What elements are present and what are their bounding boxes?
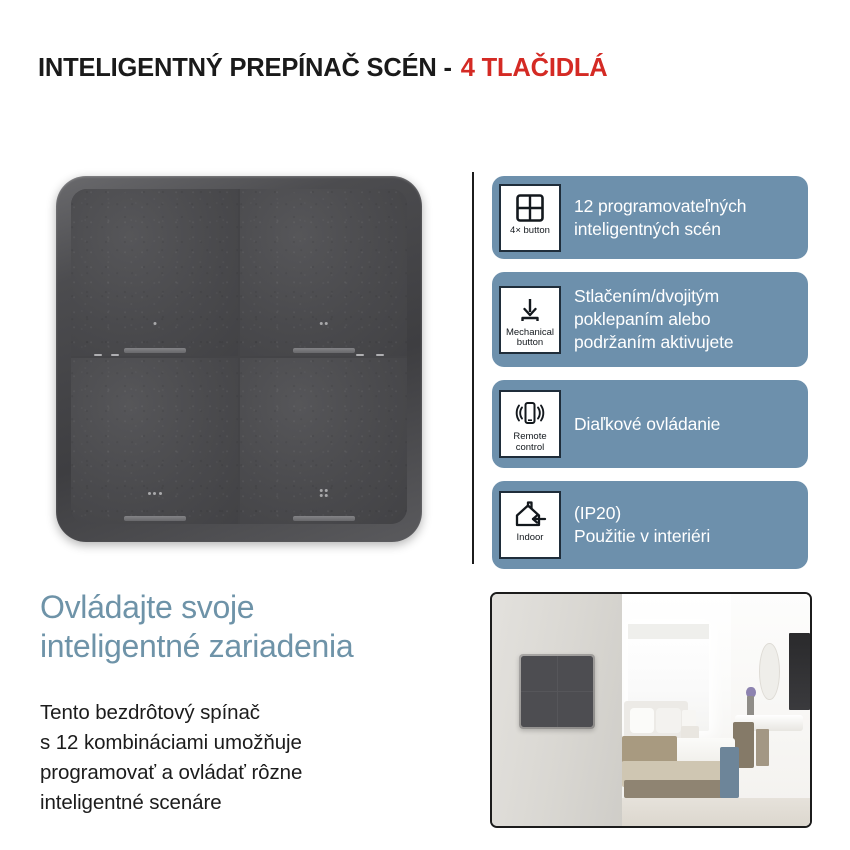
promo-heading-line: Ovládajte svoje	[40, 588, 460, 627]
page-title-main: INTELIGENTNÝ PREPÍNAČ SCÉN -	[38, 54, 452, 83]
vertical-divider	[472, 172, 474, 564]
caption-line-2: control	[516, 442, 545, 453]
feature-icon-caption: 4× button	[510, 226, 550, 237]
photo-mirror	[759, 643, 780, 701]
pad-light-strip	[293, 516, 355, 521]
page-title-accent: 4 TLAČIDLÁ	[461, 54, 608, 83]
pad-indicator-dots-1	[153, 322, 156, 325]
feature-icon-caption: Mechanical button	[506, 328, 554, 349]
feature-icon-tile: Remote control	[499, 390, 561, 458]
photo-wall-switch-pads	[521, 656, 593, 726]
pad-glints	[240, 353, 407, 356]
photo-floor	[622, 798, 810, 826]
feature-item-press: Mechanical button Stlačením/dvojitým pok…	[492, 272, 808, 367]
pad-glints	[71, 353, 238, 356]
mechanical-press-icon	[515, 293, 545, 327]
bedroom-installation-photo	[490, 592, 812, 828]
pad-indicator-dots-4	[319, 489, 328, 498]
switch-pad-top-right[interactable]	[240, 189, 407, 356]
feature-text: (IP20) Použitie v interiéri	[561, 502, 808, 548]
photo-bench	[720, 747, 739, 798]
product-switch-image	[56, 176, 422, 542]
switch-pad-bottom-right[interactable]	[240, 358, 407, 525]
promo-heading-line: inteligentné zariadenia	[40, 627, 460, 666]
feature-item-indoor: Indoor (IP20) Použitie v interiéri	[492, 481, 808, 569]
photo-tv	[789, 633, 810, 710]
indoor-house-icon	[513, 498, 547, 532]
feature-text-line: Použitie v interiéri	[574, 525, 800, 548]
photo-pillow	[630, 708, 654, 734]
photo-throw-blanket	[622, 736, 676, 764]
photo-desk-leg	[756, 729, 769, 766]
feature-text: 12 programovateľných inteligentných scén	[561, 195, 808, 241]
feature-list: 4× button 12 programovateľných inteligen…	[492, 176, 808, 582]
feature-icon-tile: 4× button	[499, 184, 561, 252]
promo-body-line: programovať a ovládať rôzne	[40, 758, 460, 788]
feature-text-line: 12 programovateľných	[574, 195, 800, 218]
photo-bed-base	[624, 780, 729, 799]
switch-pad-top-left[interactable]	[71, 189, 238, 356]
feature-text: Stlačením/dvojitým poklepaním alebo podr…	[561, 285, 808, 354]
promo-body-line: s 12 kombináciami umožňuje	[40, 728, 460, 758]
feature-icon-tile: Indoor	[499, 491, 561, 559]
feature-text-line: Stlačením/dvojitým	[574, 285, 800, 308]
photo-wall-switch	[519, 654, 595, 728]
four-button-grid-icon	[515, 191, 545, 225]
feature-item-scenes: 4× button 12 programovateľných inteligen…	[492, 176, 808, 259]
feature-text-line: podržaním aktivujete	[574, 331, 800, 354]
feature-icon-caption: Remote control	[513, 432, 546, 453]
photo-room-scene	[622, 594, 810, 826]
pad-indicator-dots-2	[319, 322, 328, 325]
promo-heading: Ovládajte svoje inteligentné zariadenia	[40, 588, 460, 666]
feature-item-remote: Remote control Diaľkové ovládanie	[492, 380, 808, 468]
feature-text-line: Diaľkové ovládanie	[574, 413, 800, 436]
photo-right-wall	[731, 594, 810, 826]
feature-text: Diaľkové ovládanie	[561, 413, 808, 436]
remote-phone-icon	[514, 397, 546, 431]
promo-body-line: Tento bezdrôtový spínač	[40, 698, 460, 728]
caption-line-2: button	[517, 337, 543, 348]
feature-text-line: poklepaním alebo	[574, 308, 800, 331]
feature-icon-tile: Mechanical button	[499, 286, 561, 354]
caption-line-1: Remote	[513, 431, 546, 442]
page-title: INTELIGENTNÝ PREPÍNAČ SCÉN - 4 TLAČIDLÁ	[38, 50, 818, 86]
promo-body-line: inteligentné scenáre	[40, 788, 460, 818]
feature-text-line: inteligentných scén	[574, 218, 800, 241]
photo-pillow	[656, 708, 680, 734]
switch-pad-bottom-left[interactable]	[71, 358, 238, 525]
promo-body: Tento bezdrôtový spínač s 12 kombináciam…	[40, 698, 460, 818]
feature-icon-caption: Indoor	[517, 533, 544, 544]
switch-button-grid	[71, 189, 407, 524]
feature-text-line: (IP20)	[574, 502, 800, 525]
pad-indicator-dots-3	[148, 492, 162, 495]
caption-line-1: Mechanical	[506, 327, 554, 338]
pad-light-strip	[124, 516, 186, 521]
photo-vase	[747, 696, 754, 717]
